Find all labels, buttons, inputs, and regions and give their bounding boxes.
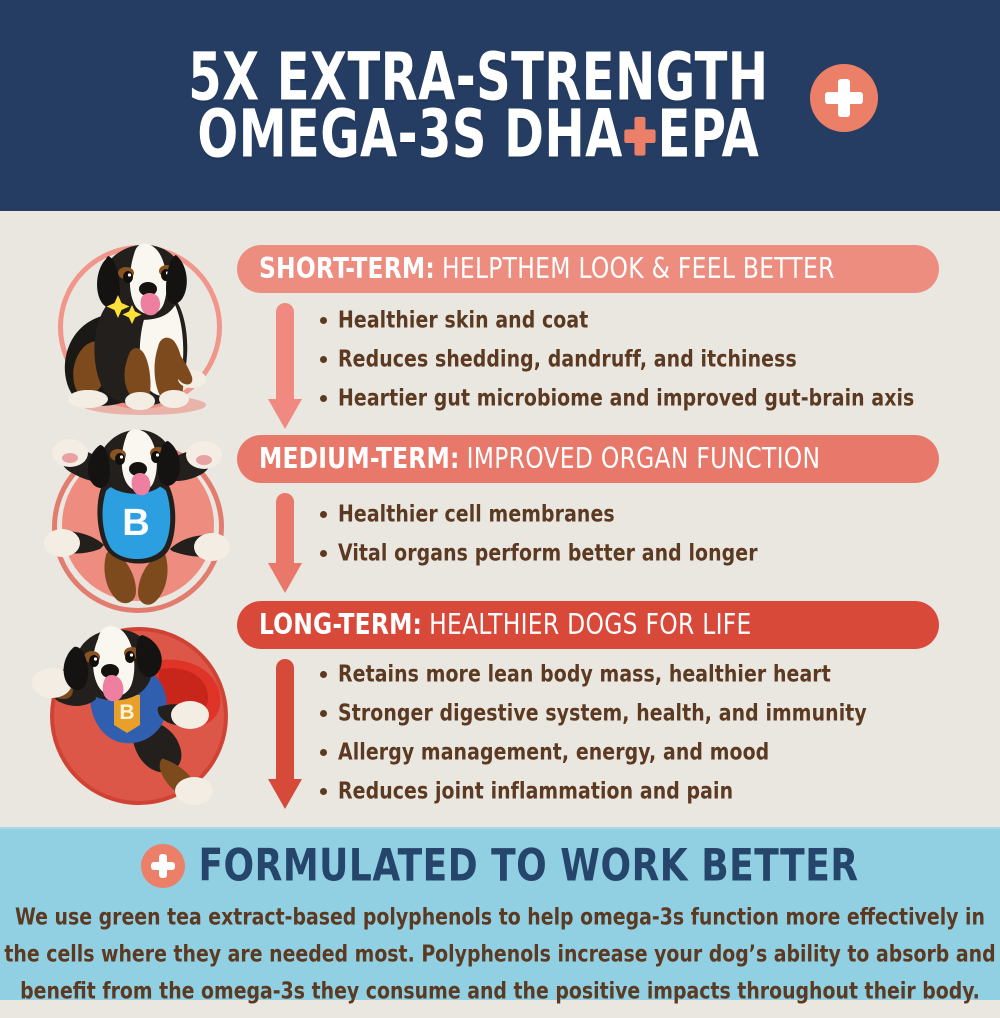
illustration-jumping-dog: B xyxy=(26,423,246,618)
svg-text:B: B xyxy=(122,502,149,544)
list-item: Healthier cell membranes xyxy=(320,503,758,524)
header-line-2-dha: OMEGA-3S DHA xyxy=(197,102,622,167)
bullet-text: Healthier skin and coat xyxy=(338,309,588,332)
cross-glyph xyxy=(825,79,863,117)
list-item: Heartier gut microbiome and improved gut… xyxy=(320,387,914,408)
bullet-dot xyxy=(320,511,327,518)
list-item: Stronger digestive system, health, and i… xyxy=(320,702,867,723)
footer-heading-block: FORMULATED TO WORK BETTER xyxy=(0,843,1000,889)
footer-section: FORMULATED TO WORK BETTER We use green t… xyxy=(0,827,1000,1000)
list-item: Retains more lean body mass, healthier h… xyxy=(320,663,867,684)
bullet-text: Reduces shedding, dandruff, and itchines… xyxy=(338,348,797,371)
bullet-text: Healthier cell membranes xyxy=(338,503,615,526)
bullet-dot xyxy=(320,356,327,363)
bullet-dot xyxy=(320,710,327,717)
arrow-medium-term xyxy=(268,493,302,591)
list-item: Vital organs perform better and longer xyxy=(320,542,758,563)
footer-line: We use green tea extract-based polypheno… xyxy=(0,906,1000,929)
header-banner: 5X EXTRA-STRENGTH OMEGA-3S DHA EPA xyxy=(0,0,1000,211)
banner-medium-term: MEDIUM-TERM: IMPROVED ORGAN FUNCTION xyxy=(237,435,939,483)
list-item: Allergy management, energy, and mood xyxy=(320,741,867,762)
list-item: Healthier skin and coat xyxy=(320,309,914,330)
list-item: Reduces joint inflammation and pain xyxy=(320,780,867,801)
header-line-2: OMEGA-3S DHA EPA xyxy=(197,102,759,167)
header-line-2-epa: EPA xyxy=(657,102,759,167)
bullet-list-short-term: Healthier skin and coat Reduces shedding… xyxy=(320,309,914,426)
banner-short-term: SHORT-TERM: HELPTHEM LOOK & FEEL BETTER xyxy=(237,245,939,293)
bullet-list-long-term: Retains more lean body mass, healthier h… xyxy=(320,663,867,819)
main-content: B xyxy=(0,211,1000,827)
bullet-text: Stronger digestive system, health, and i… xyxy=(338,702,867,725)
bullet-text: Retains more lean body mass, healthier h… xyxy=(338,663,831,686)
medical-cross-badge-icon xyxy=(810,64,878,132)
footer-line: benefit from the omega-3s they consume a… xyxy=(0,980,1000,1003)
footer-body-text: We use green tea extract-based polypheno… xyxy=(0,907,1000,1018)
banner-long-term: LONG-TERM: HEALTHIER DOGS FOR LIFE xyxy=(237,601,939,649)
bullet-dot xyxy=(320,550,327,557)
illustration-superhero-dog: B xyxy=(18,611,248,821)
list-item: Reduces shedding, dandruff, and itchines… xyxy=(320,348,914,369)
arrow-long-term xyxy=(268,659,302,811)
footer-line: the cells where they are needed most. Po… xyxy=(0,943,1000,966)
banner-label-long-term: LONG-TERM: xyxy=(259,609,422,642)
footer-title: FORMULATED TO WORK BETTER xyxy=(198,840,858,892)
bullet-text: Vital organs perform better and longer xyxy=(338,542,758,565)
superhero-dog-art: B xyxy=(18,611,248,821)
bullet-list-medium-term: Healthier cell membranes Vital organs pe… xyxy=(320,503,758,581)
banner-label-medium-term: MEDIUM-TERM: xyxy=(259,443,460,476)
medical-cross-badge-icon xyxy=(141,844,185,888)
banner-headline-long-term: HEALTHIER DOGS FOR LIFE xyxy=(429,609,751,642)
bullet-dot xyxy=(320,317,327,324)
banner-label-short-term: SHORT-TERM: xyxy=(259,253,435,286)
illustration-sitting-dog xyxy=(40,229,240,429)
bullet-dot xyxy=(320,671,327,678)
jumping-dog-art: B xyxy=(26,423,246,618)
bullet-dot xyxy=(320,749,327,756)
bullet-dot xyxy=(320,395,327,402)
bullet-dot xyxy=(320,788,327,795)
arrow-short-term xyxy=(268,303,302,429)
banner-headline-short-term: HELPTHEM LOOK & FEEL BETTER xyxy=(442,253,835,286)
cross-glyph xyxy=(151,854,175,878)
bullet-text: Heartier gut microbiome and improved gut… xyxy=(338,387,914,410)
plus-icon xyxy=(624,117,655,156)
bullet-text: Allergy management, energy, and mood xyxy=(338,741,769,764)
banner-headline-medium-term: IMPROVED ORGAN FUNCTION xyxy=(467,443,821,476)
svg-text:B: B xyxy=(119,701,134,724)
sitting-dog-art xyxy=(40,229,240,429)
bullet-text: Reduces joint inflammation and pain xyxy=(338,780,733,803)
